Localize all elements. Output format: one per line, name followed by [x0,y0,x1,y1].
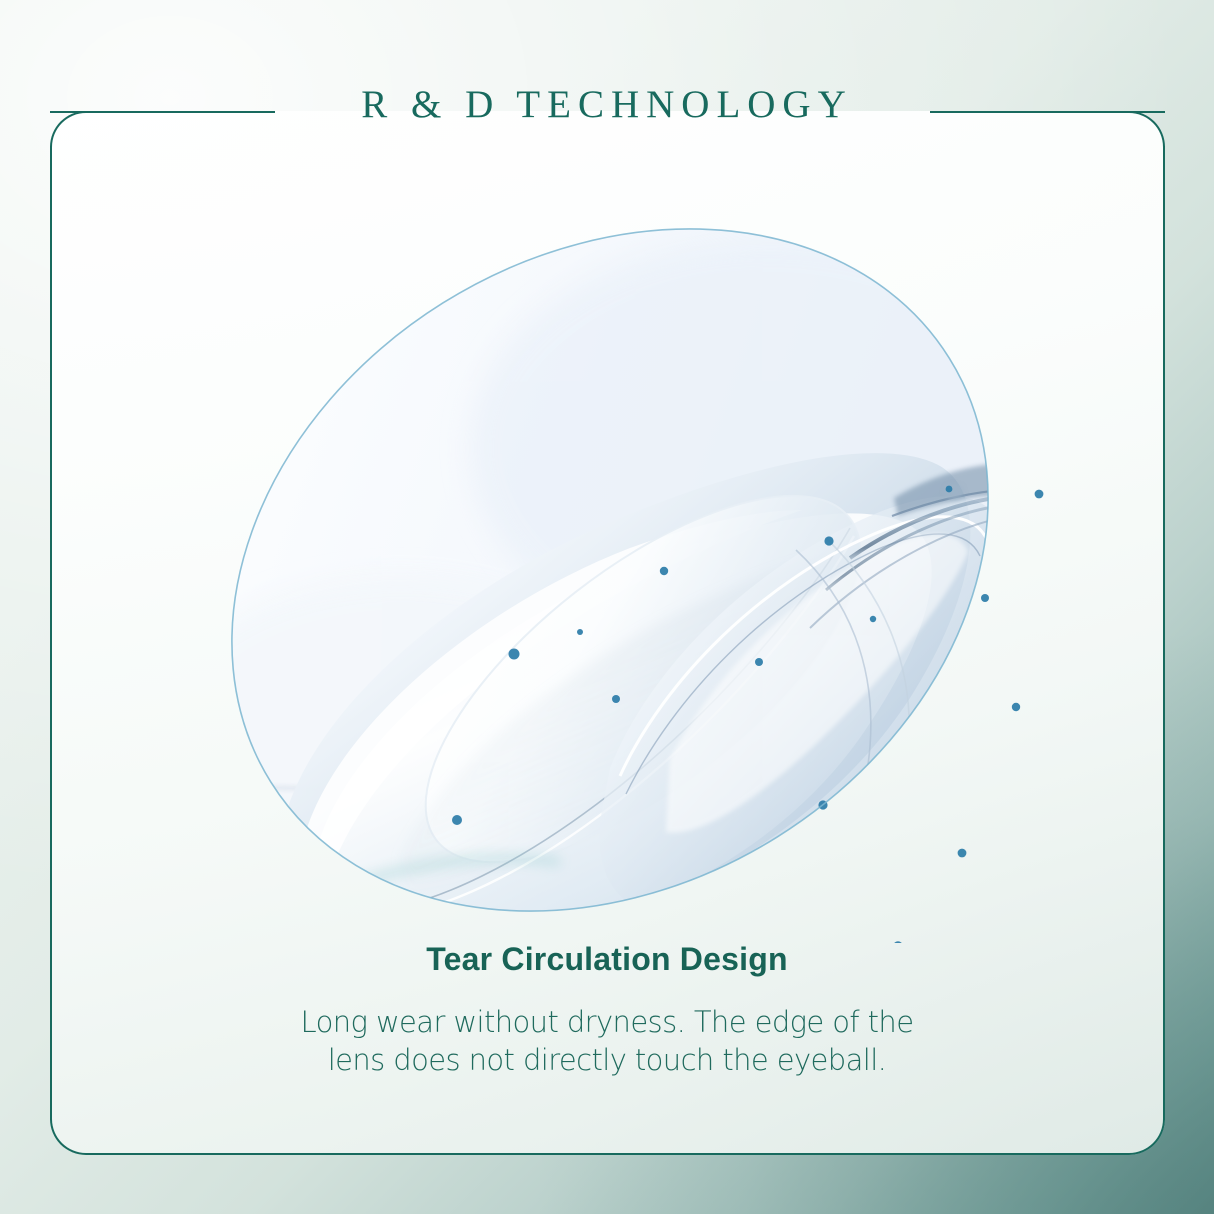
bubble-dot [755,658,763,666]
feature-heading: Tear Circulation Design [0,941,1214,978]
bubble-dot [958,849,967,858]
contact-lens-illustration [150,198,1070,943]
bubble-dot [1012,703,1020,711]
page-title: R & D TECHNOLOGY [0,82,1214,127]
bubble-dot [612,695,620,703]
bubble-dot [660,567,668,575]
bubble-dot [824,536,833,545]
bubble-dot [577,629,583,635]
bubble-dot [946,486,953,493]
frame-corner-bottom-left [50,1083,122,1155]
bubble-dot [1035,490,1044,499]
frame-corner-bottom-right [1093,1083,1165,1155]
bubble-dot [452,815,462,825]
bubble-dot [981,594,989,602]
bubble-dot [870,616,876,622]
frame-border-bottom [86,1153,1129,1155]
feature-description: Long wear without dryness. The edge of t… [277,1003,937,1080]
bubble-dot [509,649,520,660]
water-droplet-highlight [1020,467,1048,489]
hero-illustration [150,198,1070,943]
poster-root: R & D TECHNOLOGY [0,0,1214,1214]
